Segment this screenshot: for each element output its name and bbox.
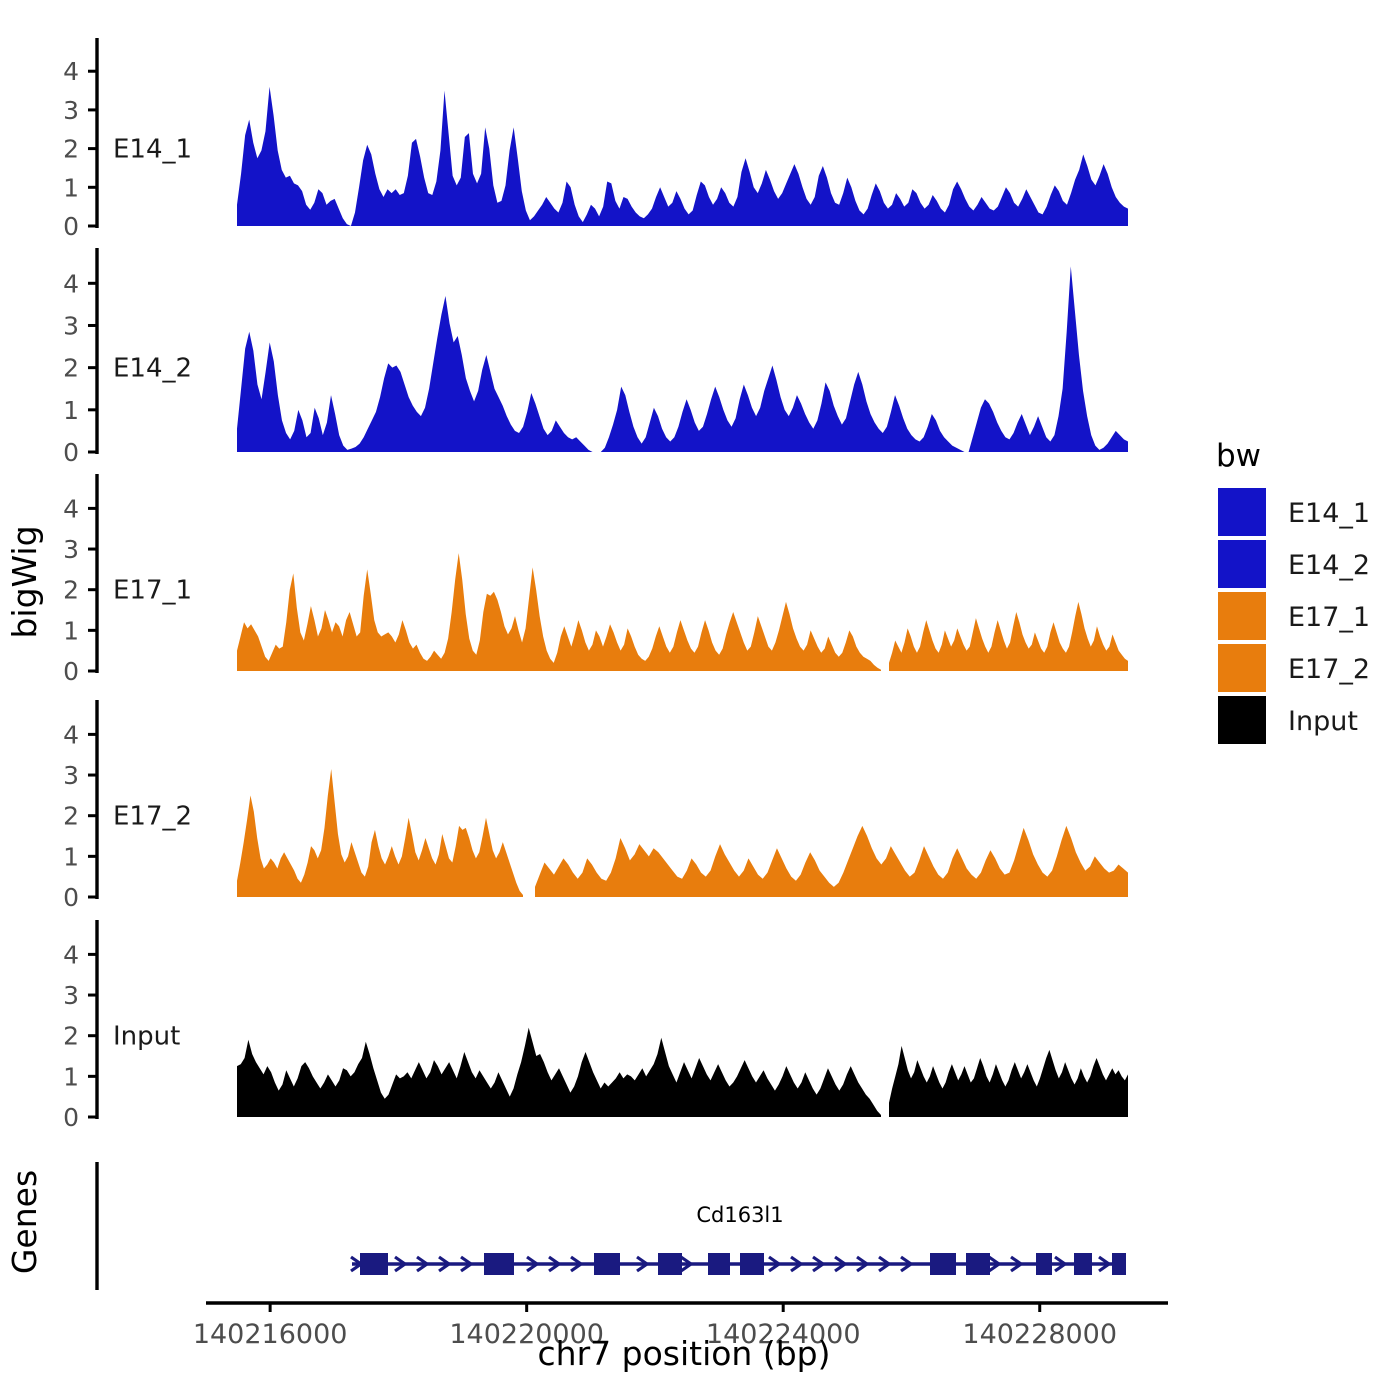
track-label-e14_1: E14_1 — [113, 135, 192, 165]
legend-swatch-e17_2[interactable] — [1218, 644, 1266, 692]
legend: bwE14_1E14_2E17_1E17_2Input — [1216, 438, 1370, 744]
y-tick-label: 3 — [63, 96, 79, 125]
y-tick-label: 4 — [63, 720, 79, 749]
genes-axis-title: Genes — [5, 1170, 44, 1274]
y-tick-label: 1 — [63, 1062, 79, 1091]
track-label-e17_1: E17_1 — [113, 576, 192, 606]
gene-exon-2 — [484, 1253, 514, 1275]
legend-label-e17_1: E17_1 — [1288, 602, 1370, 633]
gene-exon-9 — [1036, 1253, 1052, 1275]
legend-label-input: Input — [1288, 706, 1358, 737]
track-panel-input: 01234Input — [63, 920, 1128, 1132]
legend-swatch-e17_1[interactable] — [1218, 592, 1266, 640]
y-tick-label: 0 — [63, 212, 79, 241]
track-panel-e14_1: 01234E14_1 — [63, 38, 1128, 241]
y-tick-label: 4 — [63, 57, 79, 86]
legend-label-e14_2: E14_2 — [1288, 550, 1370, 581]
signal-area-input-seg0 — [237, 1028, 881, 1117]
track-label-e14_2: E14_2 — [113, 354, 192, 384]
y-tick-label: 1 — [63, 616, 79, 645]
legend-label-e14_1: E14_1 — [1288, 498, 1370, 529]
signal-area-e17_1-seg1 — [889, 602, 1128, 671]
y-tick-label: 1 — [63, 842, 79, 871]
gene-exon-10 — [1074, 1253, 1092, 1275]
x-axis-title: chr7 position (bp) — [538, 1334, 831, 1373]
y-tick-label: 2 — [63, 135, 79, 164]
y-tick-label: 4 — [63, 494, 79, 523]
x-axis: 140216000140220000140224000140228000chr7… — [193, 1303, 1168, 1373]
y-tick-label: 2 — [63, 802, 79, 831]
y-tick-label: 4 — [63, 940, 79, 969]
gene-exon-1 — [360, 1253, 388, 1275]
legend-label-e17_2: E17_2 — [1288, 654, 1370, 685]
signal-area-e17_1-seg0 — [237, 553, 881, 671]
gene-exon-8 — [966, 1253, 990, 1275]
bigwig-genome-browser-figure: 01234E14_101234E14_201234E17_101234E17_2… — [0, 0, 1400, 1400]
y-tick-label: 3 — [63, 981, 79, 1010]
gene-exon-7 — [930, 1253, 956, 1275]
bigwig-axis-title: bigWig — [5, 525, 44, 638]
y-tick-label: 0 — [63, 438, 79, 467]
genes-panel: GenesCd163l1 — [5, 1162, 1126, 1290]
y-tick-label: 1 — [63, 173, 79, 202]
track-label-input: Input — [113, 1022, 180, 1052]
y-tick-label: 3 — [63, 761, 79, 790]
y-tick-label: 2 — [63, 576, 79, 605]
signal-area-e14_2-seg0 — [237, 266, 1128, 452]
legend-swatch-input[interactable] — [1218, 696, 1266, 744]
gene-exon-4 — [658, 1253, 682, 1275]
gene-exon-5 — [708, 1253, 730, 1275]
x-tick-label: 140216000 — [193, 1319, 348, 1350]
signal-area-e17_2-seg0 — [237, 769, 523, 897]
y-tick-label: 1 — [63, 396, 79, 425]
track-panel-e17_2: 01234E17_2 — [63, 700, 1128, 912]
y-tick-label: 3 — [63, 311, 79, 340]
signal-area-e17_2-seg1 — [535, 826, 1128, 897]
legend-title: bw — [1216, 438, 1261, 474]
y-tick-label: 0 — [63, 657, 79, 686]
track-label-e17_2: E17_2 — [113, 802, 192, 832]
gene-exon-11 — [1112, 1253, 1126, 1275]
y-tick-label: 4 — [63, 269, 79, 298]
y-tick-label: 2 — [63, 1022, 79, 1051]
track-panel-e17_1: 01234E17_1 — [63, 474, 1128, 686]
gene-exon-3 — [594, 1253, 620, 1275]
figure-root: 01234E14_101234E14_201234E17_101234E17_2… — [0, 0, 1400, 1400]
signal-area-e14_1-seg0 — [237, 87, 1128, 226]
legend-swatch-e14_1[interactable] — [1218, 488, 1266, 536]
y-tick-label: 3 — [63, 535, 79, 564]
y-tick-label: 2 — [63, 354, 79, 383]
y-tick-label: 0 — [63, 1103, 79, 1132]
gene-name-label: Cd163l1 — [696, 1203, 783, 1227]
legend-swatch-e14_2[interactable] — [1218, 540, 1266, 588]
track-panel-e14_2: 01234E14_2 — [63, 248, 1128, 467]
signal-area-input-seg1 — [889, 1046, 1128, 1117]
y-tick-label: 0 — [63, 883, 79, 912]
x-tick-label: 140228000 — [962, 1319, 1117, 1350]
gene-exon-6 — [740, 1253, 764, 1275]
